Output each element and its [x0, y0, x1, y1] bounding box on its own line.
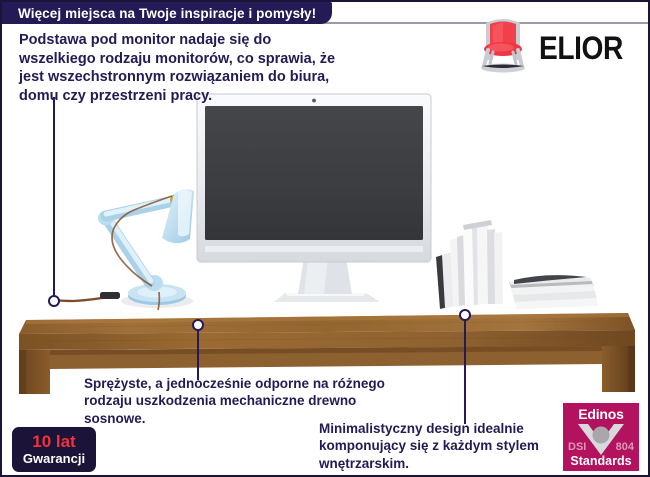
edinos-brand: Edinos	[578, 407, 623, 421]
edinos-mark: DSI 804	[564, 422, 638, 458]
callout-dot-1	[48, 295, 60, 307]
edinos-dsi-label: DSI	[568, 442, 586, 453]
warranty-years: 10 lat	[32, 433, 75, 450]
callout-line-2	[197, 328, 199, 380]
callout-line-1	[53, 97, 55, 302]
product-infographic: Więcej miejsca na Twoje inspiracje i pom…	[0, 0, 650, 477]
callout-dot-2	[192, 319, 204, 331]
callout-dot-3	[459, 309, 471, 321]
warranty-label: Gwarancji	[23, 452, 85, 467]
callout-line-3	[464, 318, 466, 424]
feature-text-bottom-right: Minimalistyczny design idealnie komponuj…	[319, 420, 569, 472]
warranty-badge: 10 lat Gwarancji	[12, 427, 96, 472]
logo-wordmark: ELIOR	[539, 32, 623, 64]
feature-text-top: Podstawa pod monitor nadaje się do wszel…	[19, 31, 349, 105]
header-banner: Więcej miejsca na Twoje inspiracje i pom…	[0, 2, 332, 24]
brand-logo: ELIOR	[477, 16, 634, 79]
edinos-number: 804	[616, 442, 634, 453]
edinos-certification-badge: Edinos DSI 804 Standards	[563, 403, 639, 471]
red-chair-icon	[477, 16, 529, 79]
header-banner-text: Więcej miejsca na Twoje inspiracje i pom…	[18, 6, 316, 21]
